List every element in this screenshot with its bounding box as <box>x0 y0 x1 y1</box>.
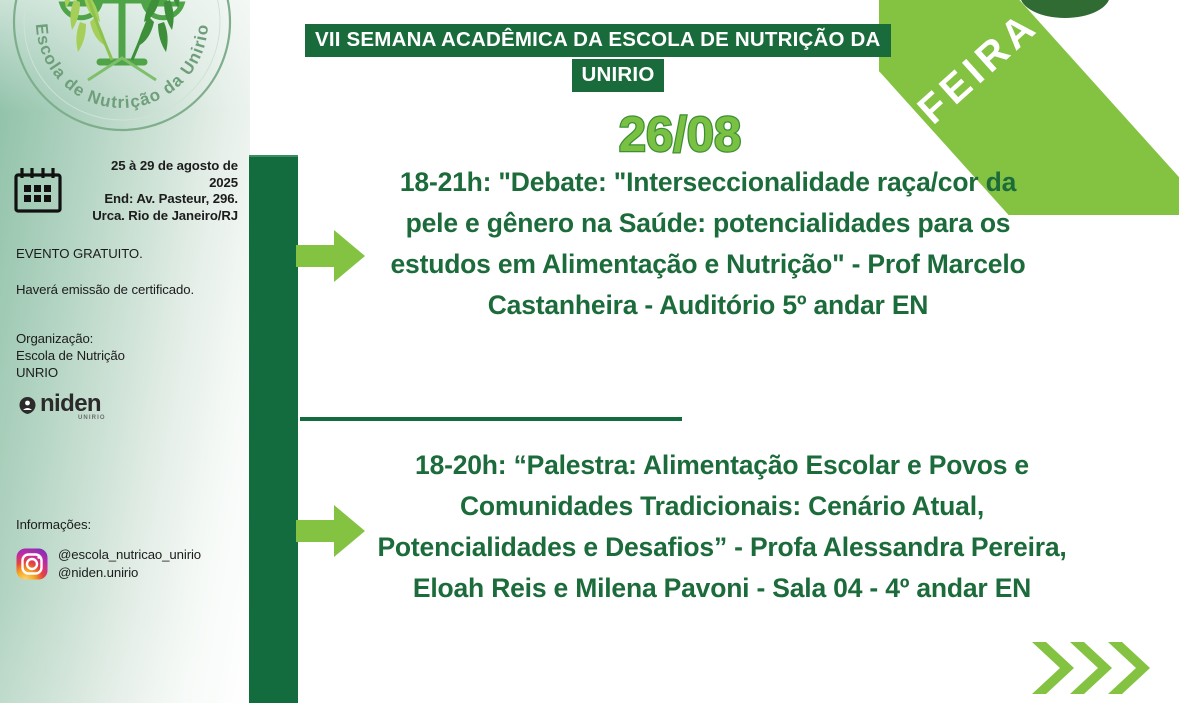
instagram-icon[interactable] <box>16 548 48 580</box>
niden-subtitle: UNIRIO <box>78 415 106 421</box>
niden-wordmark: niden <box>40 391 101 417</box>
niden-mark-icon <box>18 396 37 415</box>
section-divider <box>300 417 682 421</box>
event-date-heading: 26/08 <box>300 108 1060 162</box>
free-event-note: EVENTO GRATUITO. <box>16 245 232 262</box>
chevron-right-icon-group <box>1030 638 1170 698</box>
vertical-green-bar-top-edge <box>249 155 298 157</box>
organization-block: Organização: Escola de Nutrição UNRIO <box>16 330 232 381</box>
instagram-handle-1[interactable]: @escola_nutricao_unirio <box>58 546 201 564</box>
organization-line-3: UNRIO <box>16 364 232 381</box>
date-line-4: Urca. Rio de Janeiro/RJ <box>70 208 238 225</box>
right-arrow-icon <box>296 503 366 559</box>
right-arrow-icon <box>296 228 366 284</box>
niden-logo: niden UNIRIO <box>18 393 148 427</box>
poster-header: VII SEMANA ACADÊMICA DA ESCOLA DE NUTRIÇ… <box>305 24 931 92</box>
date-line-3: End: Av. Pasteur, 296. <box>70 191 238 208</box>
event-1-description: 18-21h: "Debate: "Interseccionalidade ra… <box>372 162 1044 326</box>
info-label: Informações: <box>16 516 232 533</box>
organization-line-2: Escola de Nutrição <box>16 347 232 364</box>
organization-line-1: Organização: <box>16 330 232 347</box>
event-date-address: 25 à 29 de agosto de 2025 End: Av. Paste… <box>70 158 238 224</box>
certificate-note: Haverá emissão de certificado. <box>16 281 232 298</box>
date-line-2: 2025 <box>70 175 238 192</box>
header-line-2-row: UNIRIO <box>305 59 931 92</box>
poster-canvas: Escola de Nutrição da Unirio <box>0 0 1179 703</box>
date-line-1: 25 à 29 de agosto de <box>70 158 238 175</box>
header-line-1: VII SEMANA ACADÊMICA DA ESCOLA DE NUTRIÇ… <box>305 24 891 57</box>
school-seal-logo: Escola de Nutrição da Unirio <box>8 0 236 136</box>
header-line-2: UNIRIO <box>572 59 665 92</box>
instagram-handles: @escola_nutricao_unirio @niden.unirio <box>58 546 201 581</box>
instagram-handle-2[interactable]: @niden.unirio <box>58 564 201 582</box>
calendar-icon <box>12 164 64 216</box>
vertical-green-bar <box>249 155 298 703</box>
event-2-description: 18-20h: “Palestra: Alimentação Escolar e… <box>372 445 1072 609</box>
